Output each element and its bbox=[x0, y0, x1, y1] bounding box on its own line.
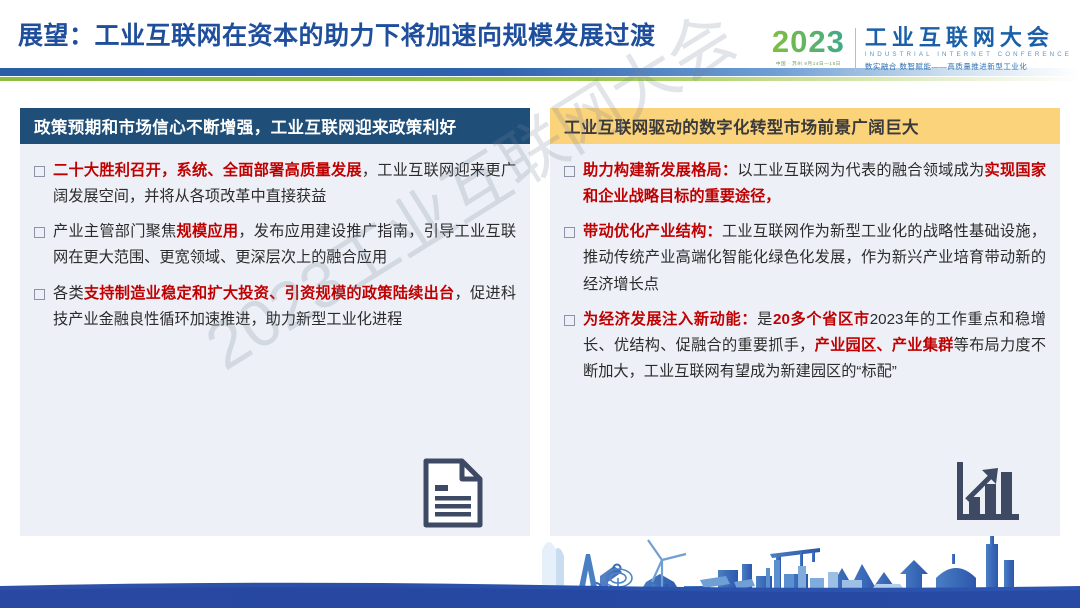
policy-panel-header: 政策预期和市场信心不断增强，工业互联网迎来政策利好 bbox=[20, 108, 530, 144]
bullet-square-icon bbox=[34, 289, 45, 300]
list-item: 二十大胜利召开，系统、全面部署高质量发展，工业互联网迎来更广阔发展空间，并将从各… bbox=[30, 158, 516, 210]
policy-panel-body: 二十大胜利召开，系统、全面部署高质量发展，工业互联网迎来更广阔发展空间，并将从各… bbox=[20, 144, 530, 536]
emphasis-text: 为经济发展注入新动能： bbox=[583, 311, 757, 328]
logo-year-subtext: 中国 · 苏州 9月14日—15日 bbox=[776, 61, 841, 67]
list-item: 助力构建新发展格局：以工业互联网为代表的融合领域成为实现国家和企业战略目标的重要… bbox=[560, 158, 1046, 210]
emphasis-text: 规模应用 bbox=[177, 223, 239, 240]
list-item-text: 产业主管部门聚焦规模应用，发布应用建设推广指南，引导工业互联网在更大范围、更宽领… bbox=[53, 219, 516, 271]
logo-name-block: 工业互联网大会 INDUSTRIAL INTERNET CONFERENCE 数… bbox=[865, 26, 1072, 72]
emphasis-text: 带动优化产业结构： bbox=[583, 223, 722, 240]
page-title: 展望：工业互联网在资本的助力下将加速向规模发展过渡 bbox=[18, 16, 656, 52]
list-item-text: 带动优化产业结构：工业互联网作为新型工业化的战略性基础设施，推动传统产业高端化智… bbox=[583, 219, 1046, 297]
bullet-square-icon bbox=[34, 227, 45, 238]
logo-slogan: 数实融合 数智赋能——高质量推进新型工业化 bbox=[865, 61, 1072, 72]
body-text: 各类 bbox=[53, 285, 84, 302]
list-item: 为经济发展注入新动能：是20多个省区市2023年的工作重点和稳增长、优结构、促融… bbox=[560, 307, 1046, 385]
logo-year: 2023 bbox=[772, 26, 845, 57]
skyline-energy-right bbox=[542, 540, 906, 592]
emphasis-text: 20多个省区市 bbox=[773, 311, 870, 328]
list-item-text: 各类支持制造业稳定和扩大投资、引资规模的政策陆续出台，促进科技产业金融良性循环加… bbox=[53, 281, 516, 333]
list-item: 带动优化产业结构：工业互联网作为新型工业化的战略性基础设施，推动传统产业高端化智… bbox=[560, 219, 1046, 297]
list-item-text: 助力构建新发展格局：以工业互联网为代表的融合领域成为实现国家和企业战略目标的重要… bbox=[583, 158, 1046, 210]
market-panel: 工业互联网驱动的数字化转型市场前景广阔巨大助力构建新发展格局：以工业互联网为代表… bbox=[550, 108, 1060, 536]
bullet-square-icon bbox=[564, 227, 575, 238]
slide-header: 展望：工业互联网在资本的助力下将加速向规模发展过渡 2023 中国 · 苏州 9… bbox=[0, 0, 1080, 96]
list-item-text: 为经济发展注入新动能：是20多个省区市2023年的工作重点和稳增长、优结构、促融… bbox=[583, 307, 1046, 385]
policy-panel: 政策预期和市场信心不断增强，工业互联网迎来政策利好二十大胜利召开，系统、全面部署… bbox=[20, 108, 530, 536]
market-panel-body: 助力构建新发展格局：以工业互联网为代表的融合领域成为实现国家和企业战略目标的重要… bbox=[550, 144, 1060, 536]
body-text: 是 bbox=[757, 311, 773, 328]
logo-name-en: INDUSTRIAL INTERNET CONFERENCE bbox=[865, 51, 1072, 58]
content-area: 政策预期和市场信心不断增强，工业互联网迎来政策利好二十大胜利召开，系统、全面部署… bbox=[0, 96, 1080, 536]
body-text: 产业主管部门聚焦 bbox=[53, 223, 177, 240]
emphasis-text: 二十大胜利召开，系统、全面部署高质量发展 bbox=[53, 162, 362, 179]
bullet-square-icon bbox=[564, 315, 575, 326]
bullet-square-icon bbox=[564, 166, 575, 177]
emphasis-text: 支持制造业稳定和扩大投资、引资规模的政策陆续出台 bbox=[84, 285, 455, 302]
growth-chart-icon bbox=[954, 462, 1020, 524]
document-icon bbox=[422, 458, 484, 526]
list-item: 各类支持制造业稳定和扩大投资、引资规模的政策陆续出台，促进科技产业金融良性循环加… bbox=[30, 281, 516, 333]
skyline-decoration bbox=[0, 530, 1080, 608]
market-panel-header: 工业互联网驱动的数字化转型市场前景广阔巨大 bbox=[550, 108, 1060, 144]
body-text: 以工业互联网为代表的融合领域成为 bbox=[737, 162, 984, 179]
emphasis-text: 产业园区、产业集群 bbox=[815, 337, 954, 354]
bullet-square-icon bbox=[34, 166, 45, 177]
emphasis-text: 助力构建新发展格局： bbox=[583, 162, 737, 179]
list-item-text: 二十大胜利召开，系统、全面部署高质量发展，工业互联网迎来更广阔发展空间，并将从各… bbox=[53, 158, 516, 210]
list-item: 产业主管部门聚焦规模应用，发布应用建设推广指南，引导工业互联网在更大范围、更宽领… bbox=[30, 219, 516, 271]
logo-year-block: 2023 中国 · 苏州 9月14日—15日 bbox=[772, 26, 855, 67]
logo-name-cn: 工业互联网大会 bbox=[865, 26, 1072, 49]
conference-logo: 2023 中国 · 苏州 9月14日—15日 工业互联网大会 INDUSTRIA… bbox=[772, 26, 1072, 84]
logo-divider bbox=[855, 28, 856, 72]
